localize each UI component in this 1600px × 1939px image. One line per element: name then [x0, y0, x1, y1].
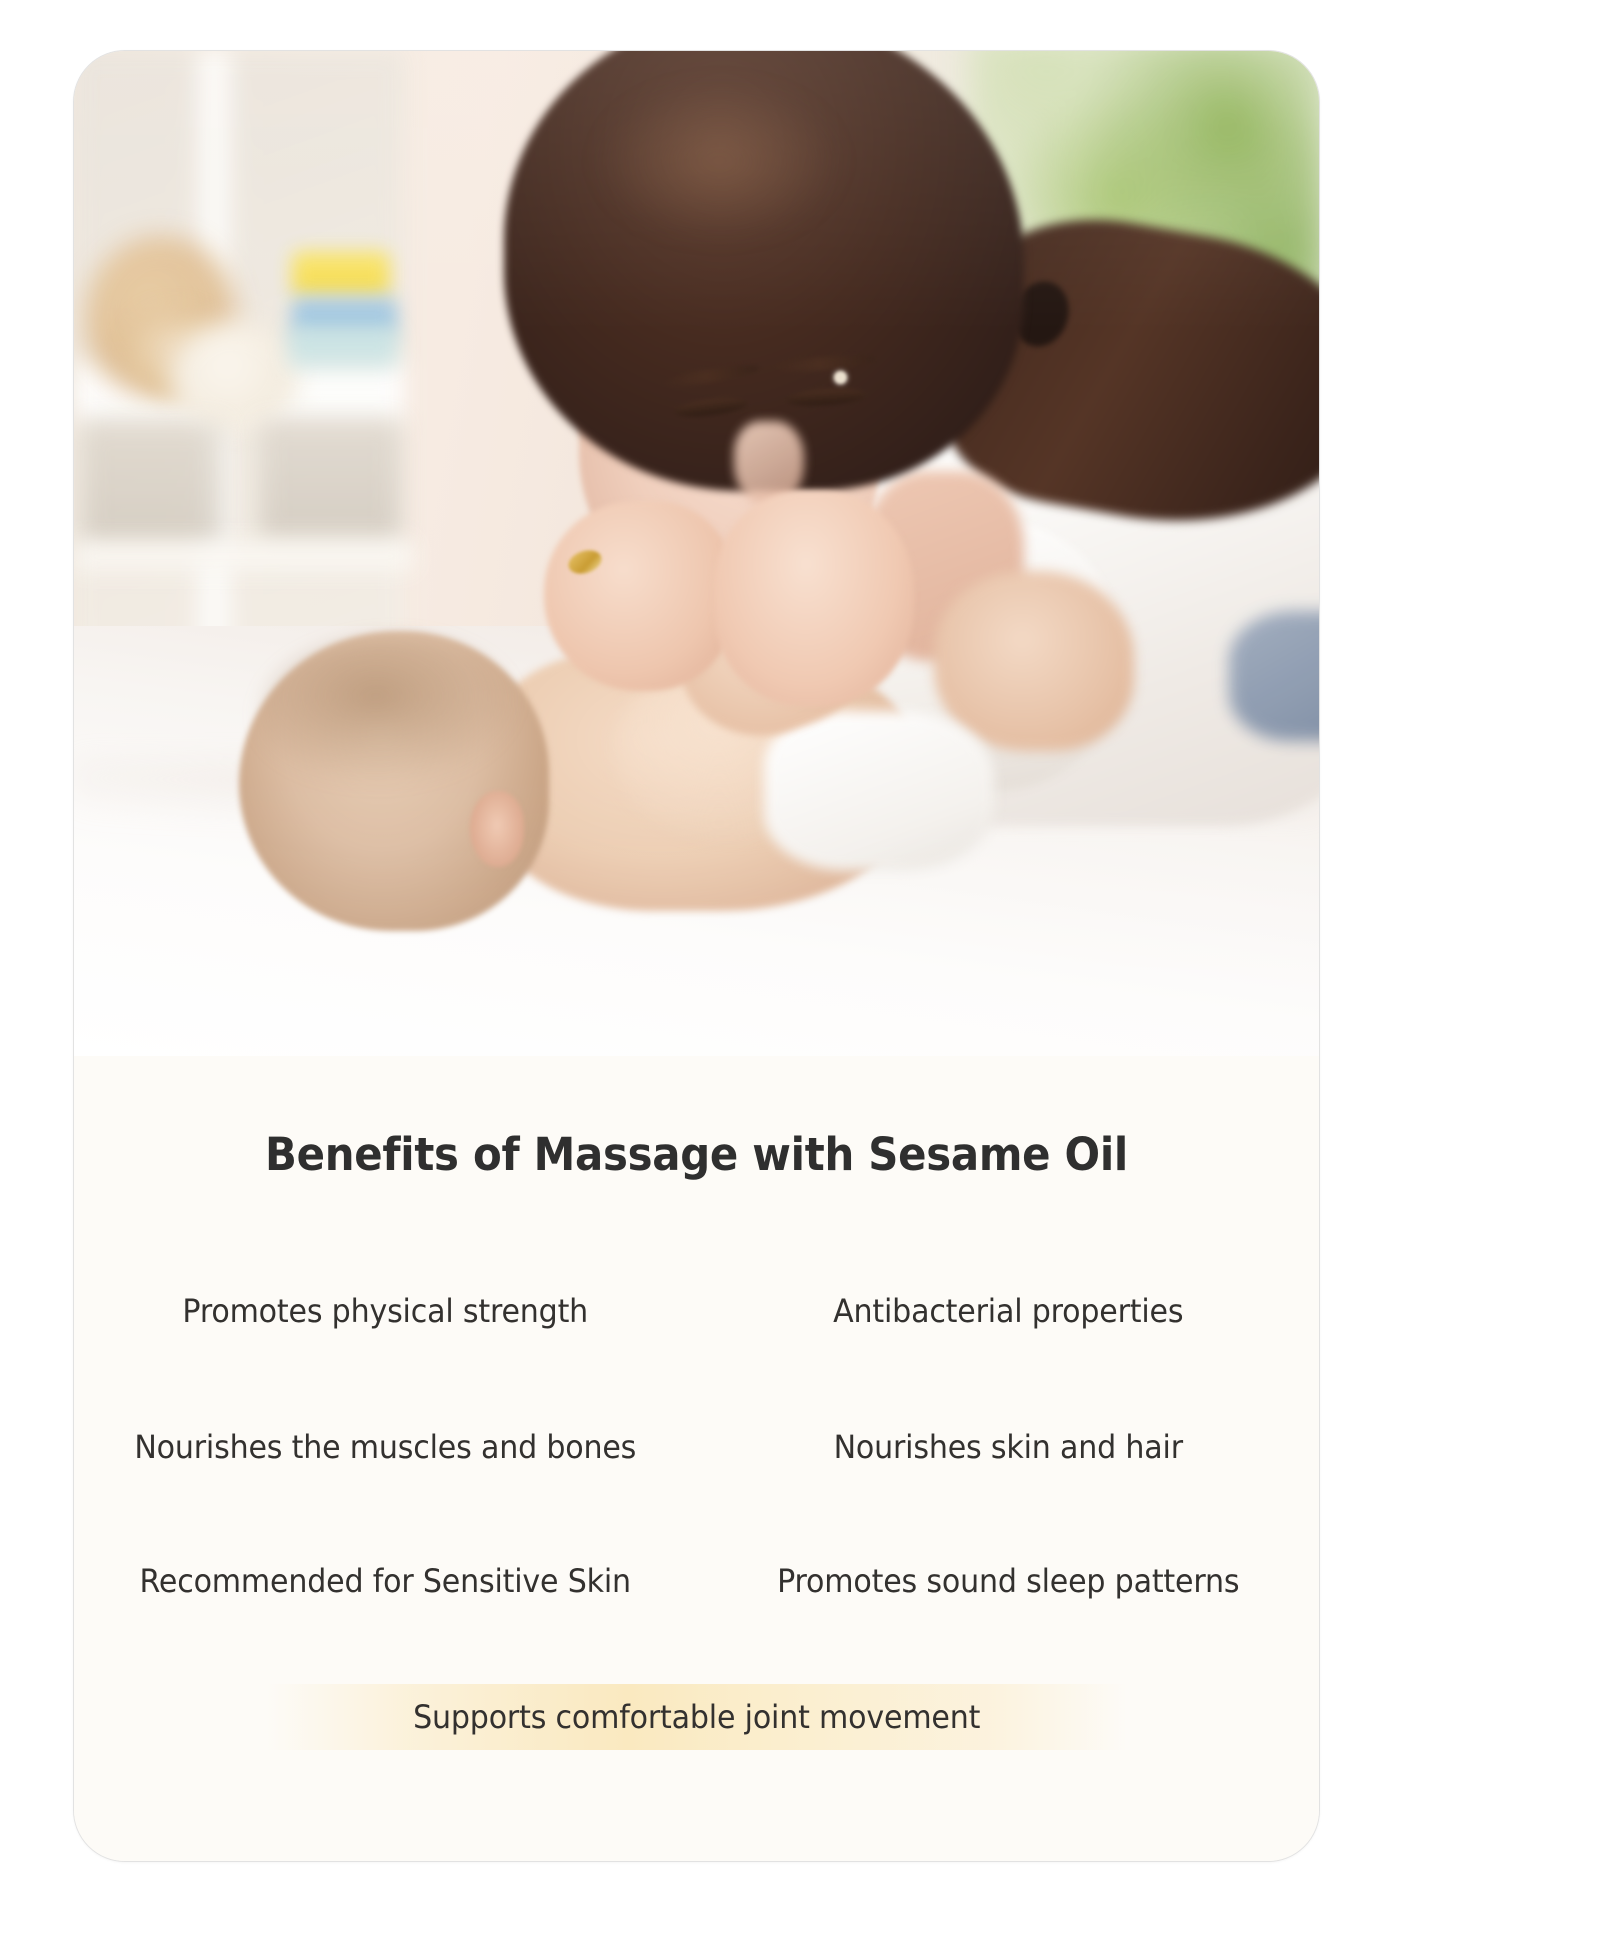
benefits-content: Benefits of Massage with Sesame Oil Prom…: [74, 1056, 1319, 1861]
page-title: Benefits of Massage with Sesame Oil: [118, 1128, 1276, 1181]
photo-white-plush-toy: [169, 321, 299, 431]
benefit-row: Recommended for Sensitive Skin Promotes …: [74, 1548, 1319, 1614]
benefit-row-band: Supports comfortable joint movement: [267, 1684, 1127, 1750]
benefit-item: Nourishes skin and hair: [715, 1428, 1300, 1466]
benefit-item: Recommended for Sensitive Skin: [93, 1562, 678, 1600]
photo-mother-jeans: [1229, 611, 1319, 741]
photo-yellow-blanket: [292, 251, 390, 296]
photo-earring: [834, 371, 847, 384]
benefit-row: Nourishes the muscles and bones Nourishe…: [74, 1414, 1319, 1480]
hero-photo: [74, 51, 1319, 1056]
photo-hair-highlight: [594, 81, 844, 241]
photo-storage-basket-left: [82, 423, 222, 548]
photo-mother-hand-right: [714, 491, 914, 706]
photo-storage-basket-lower: [260, 421, 400, 541]
benefit-item: Promotes physical strength: [93, 1292, 678, 1330]
benefit-item: Supports comfortable joint movement: [413, 1698, 980, 1736]
photo-baby-ear: [470, 791, 524, 867]
benefit-item: Nourishes the muscles and bones: [93, 1428, 678, 1466]
photo-teal-blanket: [288, 326, 398, 368]
photo-baby-diaper: [764, 711, 994, 871]
benefit-row-full-width: Supports comfortable joint movement: [74, 1684, 1319, 1750]
benefit-item: Antibacterial properties: [715, 1292, 1300, 1330]
photo-baby-leg: [934, 571, 1134, 751]
benefit-row: Promotes physical strength Antibacterial…: [74, 1278, 1319, 1344]
benefit-item: Promotes sound sleep patterns: [715, 1562, 1300, 1600]
photo-baby-hair: [259, 636, 519, 786]
photo-shelf-board: [74, 541, 414, 571]
photo-mother-hand-left: [544, 501, 734, 691]
infographic-card: Benefits of Massage with Sesame Oil Prom…: [73, 50, 1320, 1862]
